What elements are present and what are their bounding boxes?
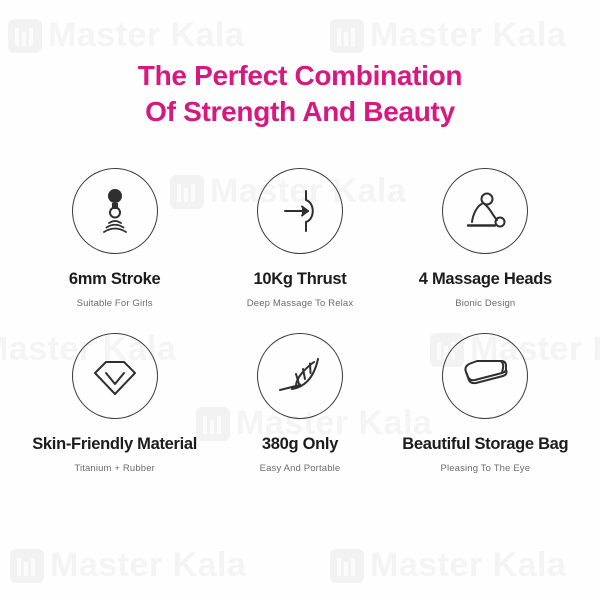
feature-row-1: 6mm Stroke Suitable For Girls 10Kg Thrus… [0, 168, 600, 309]
feature-icon-circle [442, 168, 528, 254]
massage-person-icon [457, 183, 513, 239]
feature-icon-circle [257, 333, 343, 419]
feature-item-skin-friendly-material: Skin-Friendly Material Titanium + Rubber [22, 333, 207, 474]
feature-caption: Suitable For Girls [77, 298, 153, 309]
watermark-text: Master Kala [370, 546, 566, 585]
feature-caption: Pleasing To The Eye [441, 463, 531, 474]
stroke-vibration-icon [87, 183, 143, 239]
feature-grid: 6mm Stroke Suitable For Girls 10Kg Thrus… [0, 168, 600, 474]
feature-item-6mm-stroke: 6mm Stroke Suitable For Girls [22, 168, 207, 309]
feature-title: 380g Only [262, 435, 338, 454]
feature-icon-circle [257, 168, 343, 254]
feature-caption: Titanium + Rubber [74, 463, 155, 474]
storage-bag-icon [457, 348, 513, 404]
feature-row-2: Skin-Friendly Material Titanium + Rubber [0, 333, 600, 474]
feature-title: 10Kg Thrust [254, 270, 347, 289]
infographic-page: Master Kala Master Kala Master Kala [0, 0, 600, 600]
feature-title: Skin-Friendly Material [32, 435, 197, 454]
master-kala-logo-icon [10, 549, 44, 583]
feature-title: Beautiful Storage Bag [402, 435, 568, 454]
feature-item-10kg-thrust: 10Kg Thrust Deep Massage To Relax [207, 168, 392, 309]
watermark: Master Kala [8, 16, 244, 55]
feature-item-380g-only: 380g Only Easy And Portable [207, 333, 392, 474]
feature-icon-circle [72, 168, 158, 254]
master-kala-logo-icon [8, 19, 42, 53]
title-line-1: The Perfect Combination [0, 58, 600, 94]
feature-title: 4 Massage Heads [419, 270, 552, 289]
watermark-text: Master Kala [48, 16, 244, 55]
feature-caption: Easy And Portable [260, 463, 341, 474]
feature-title: 6mm Stroke [69, 270, 160, 289]
page-title: The Perfect Combination Of Strength And … [0, 58, 600, 130]
feature-icon-circle [442, 333, 528, 419]
watermark-text: Master Kala [50, 546, 246, 585]
feature-icon-circle [72, 333, 158, 419]
feature-caption: Deep Massage To Relax [247, 298, 353, 309]
feather-icon [272, 348, 328, 404]
watermark: Master Kala [330, 16, 566, 55]
thrust-arrow-icon [272, 183, 328, 239]
watermark: Master Kala [10, 546, 246, 585]
master-kala-logo-icon [330, 19, 364, 53]
feature-caption: Bionic Design [455, 298, 515, 309]
title-line-2: Of Strength And Beauty [0, 94, 600, 130]
diamond-gem-icon [87, 348, 143, 404]
feature-item-beautiful-storage-bag: Beautiful Storage Bag Pleasing To The Ey… [393, 333, 578, 474]
feature-item-4-massage-heads: 4 Massage Heads Bionic Design [393, 168, 578, 309]
master-kala-logo-icon [330, 549, 364, 583]
watermark: Master Kala [330, 546, 566, 585]
watermark-text: Master Kala [370, 16, 566, 55]
